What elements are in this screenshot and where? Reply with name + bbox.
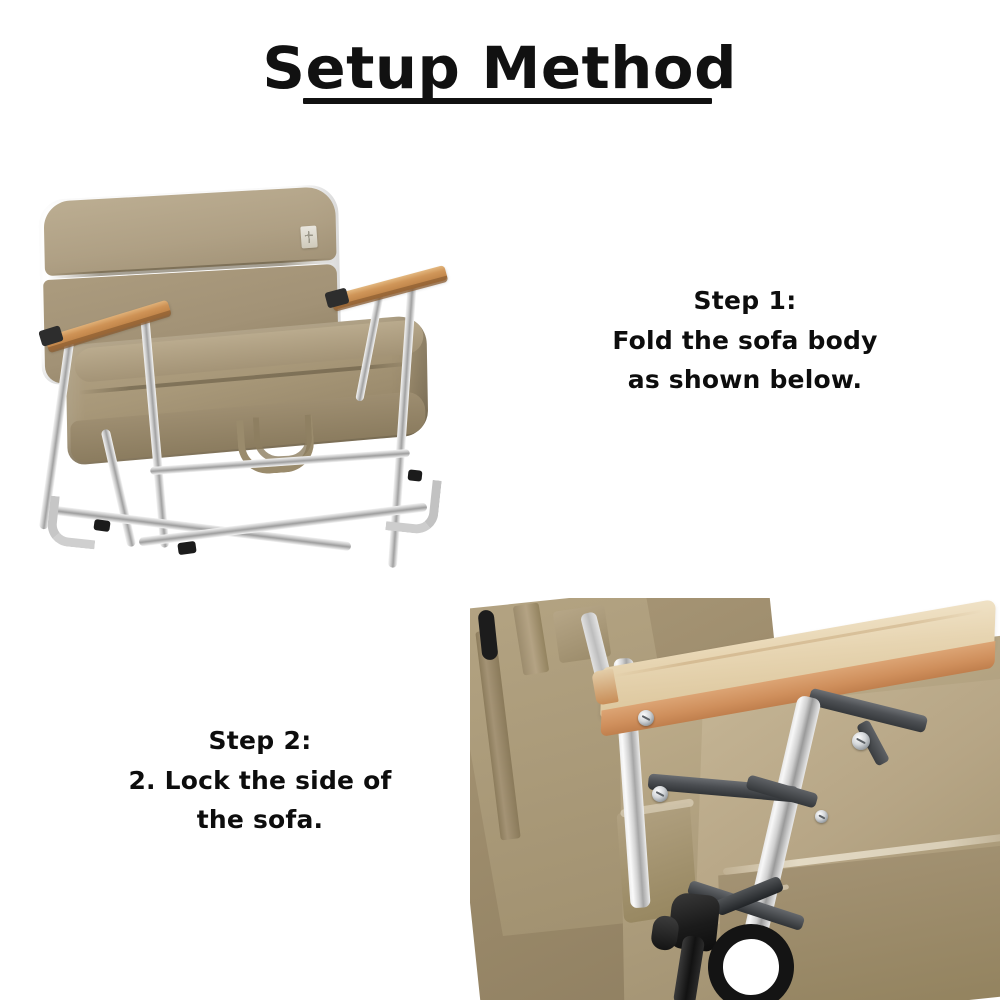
screw-brace-upper-icon xyxy=(852,732,870,750)
step-1-line-2: as shown below. xyxy=(575,360,915,400)
screw-armrest-icon xyxy=(638,710,654,726)
instruction-sheet: Setup Method Step 1: Fo xyxy=(0,0,1000,1000)
foot-cap-1-icon xyxy=(93,519,110,532)
frame-corner-left-icon xyxy=(46,496,100,550)
frame-corner-right-icon xyxy=(385,475,441,535)
step-2-line-2: the sofa. xyxy=(90,800,430,840)
page-title-block: Setup Method xyxy=(0,38,1000,99)
foot-cap-2-icon xyxy=(177,541,196,555)
screw-tube-icon xyxy=(815,810,828,823)
foot-cap-3-icon xyxy=(407,469,422,481)
step-1-text-block: Step 1: Fold the sofa body as shown belo… xyxy=(575,282,915,400)
brand-fabric-tag-icon xyxy=(300,225,317,248)
step-1-heading: Step 1: xyxy=(575,282,915,321)
detail-photo-side-lock xyxy=(470,598,1000,1000)
step-2-heading: Step 2: xyxy=(90,722,430,761)
step-2-text-block: Step 2: 2. Lock the side of the sofa. xyxy=(90,722,430,840)
step-2-line-1: 2. Lock the side of xyxy=(90,761,430,801)
step-1-line-1: Fold the sofa body xyxy=(575,321,915,361)
page-title: Setup Method xyxy=(263,38,738,99)
screw-brace-pivot-icon xyxy=(652,786,668,802)
product-photo-folding-sofa xyxy=(30,180,460,570)
title-underline xyxy=(303,98,712,104)
